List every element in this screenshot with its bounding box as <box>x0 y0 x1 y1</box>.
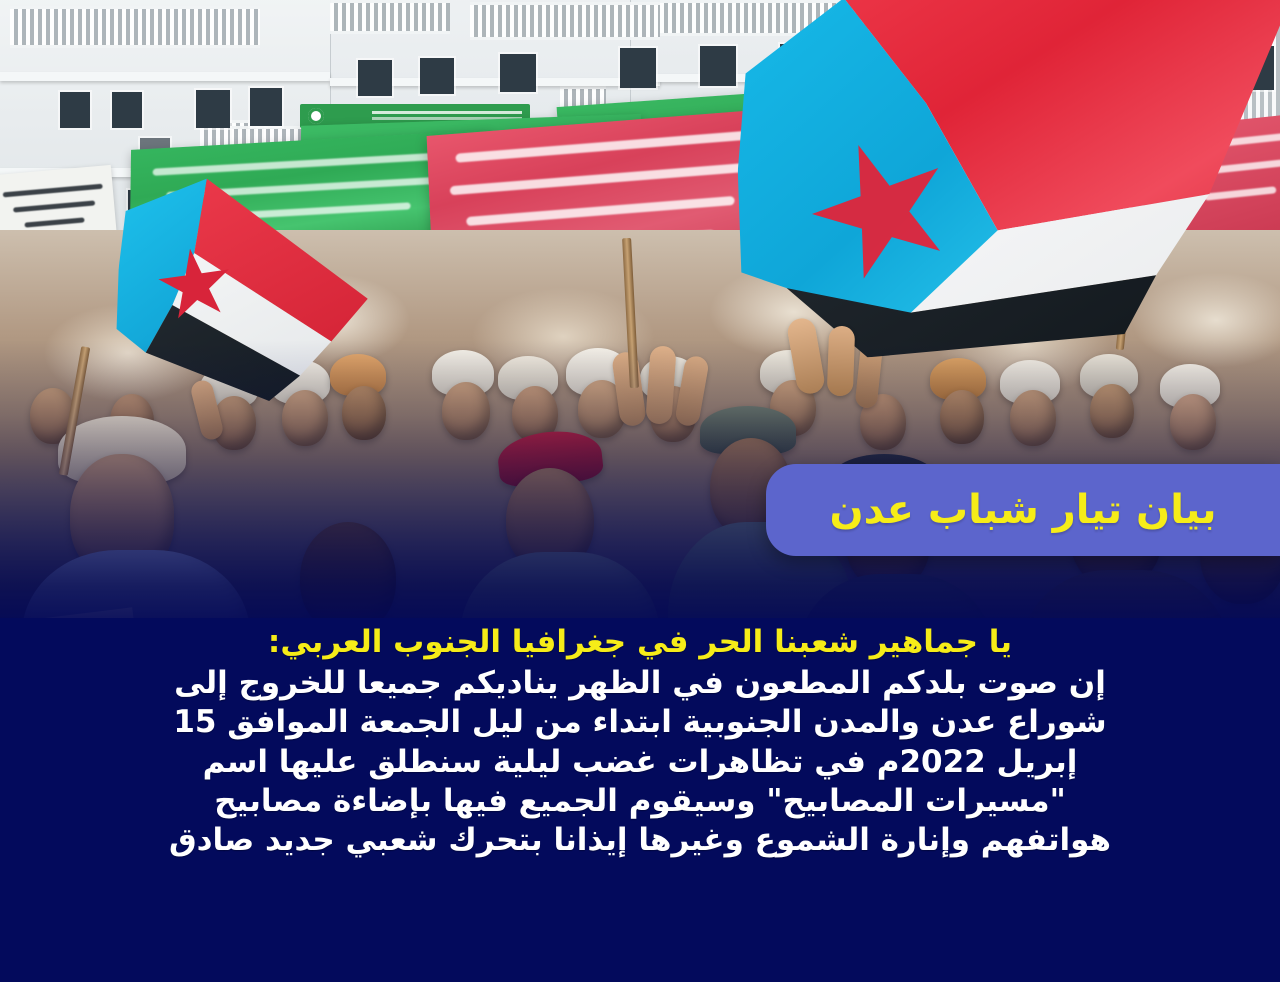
building-ledge-1 <box>0 72 330 81</box>
window <box>196 90 230 128</box>
statement-body-line: إبريل 2022م في تظاهرات غضب ليلية سنطلق ع… <box>26 743 1254 782</box>
balcony-rail-2 <box>330 0 450 34</box>
statement-panel: يا جماهير شعبنا الحر في جغرافيا الجنوب ا… <box>0 618 1280 982</box>
window <box>620 48 656 88</box>
south-yemen-flag-small <box>114 176 372 405</box>
poster-root: بيان تيار شباب عدن يا جماهير شعبنا الحر … <box>0 0 1280 982</box>
hand-holding-flag <box>827 326 855 397</box>
person-head <box>1170 394 1216 450</box>
statement-body-line: شوراع عدن والمدن الجنوبية ابتداء من ليل … <box>26 703 1254 742</box>
person-head <box>940 390 984 444</box>
window <box>250 88 282 126</box>
balcony-rail-3 <box>470 2 660 40</box>
statement-body-line: هواتفهم وإنارة الشموع وغيرها إيذانا بتحر… <box>26 821 1254 860</box>
statement-headline: يا جماهير شعبنا الحر في جغرافيا الجنوب ا… <box>26 624 1254 662</box>
window <box>420 58 454 94</box>
south-yemen-flag-large <box>732 0 1280 362</box>
window <box>700 46 736 86</box>
title-banner: بيان تيار شباب عدن <box>766 464 1280 556</box>
window <box>500 54 536 92</box>
raised-hand <box>645 345 676 425</box>
window <box>60 92 90 128</box>
statement-body-line: إن صوت بلدكم المطعون في الظهر يناديكم جم… <box>26 664 1254 703</box>
title-banner-text: بيان تيار شباب عدن <box>829 487 1216 533</box>
window <box>112 92 142 128</box>
statement-body-line: "مسيرات المصابيح" وسيقوم الجميع فيها بإض… <box>26 782 1254 821</box>
person-head <box>442 382 490 440</box>
person-head <box>1010 390 1056 446</box>
person-head <box>1090 384 1134 438</box>
window <box>358 60 392 96</box>
balcony-rail-1 <box>10 6 260 48</box>
statement-body: إن صوت بلدكم المطعون في الظهر يناديكم جم… <box>26 664 1254 861</box>
